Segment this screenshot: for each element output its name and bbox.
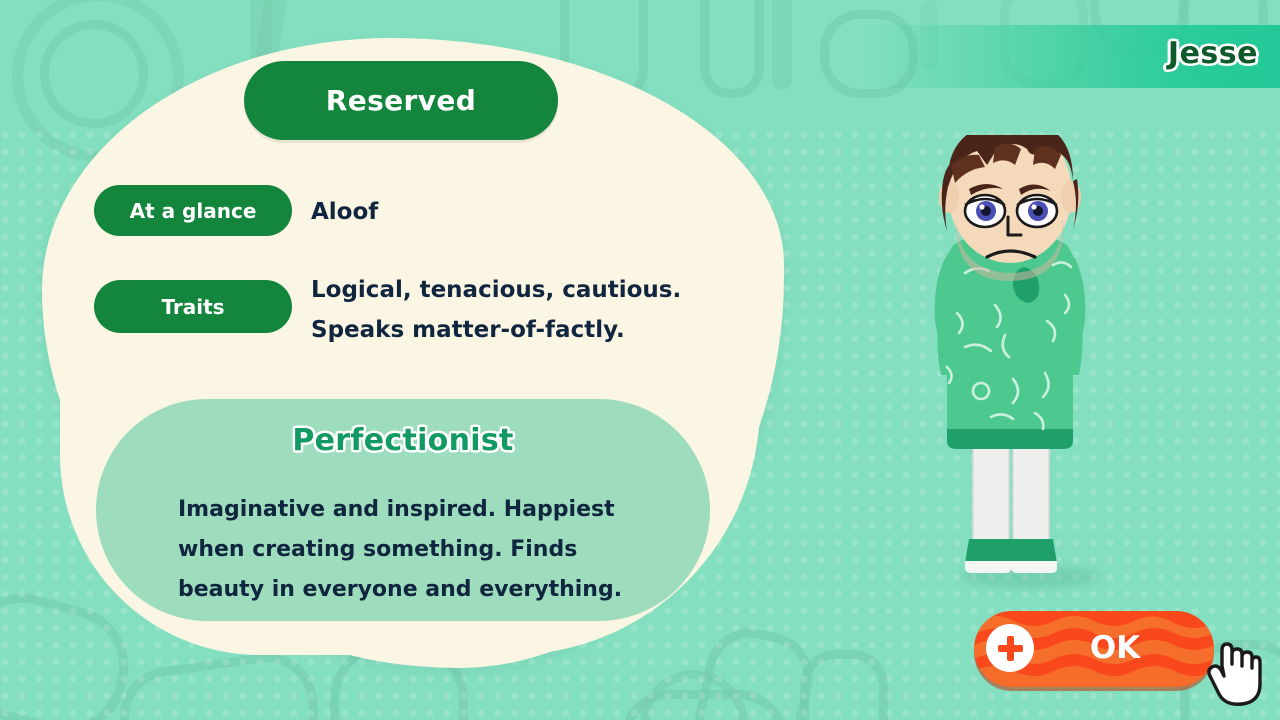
at-a-glance-value: Aloof — [311, 192, 378, 232]
highlight-description-line-1: Imaginative and inspired. Happiest — [178, 490, 688, 530]
mii-character — [895, 135, 1125, 585]
mii-personality-screen: Jesse — [0, 0, 1280, 720]
personality-title: Reserved — [326, 84, 477, 117]
at-a-glance-label-pill: At a glance — [94, 185, 292, 236]
highlight-description: Imaginative and inspired. Happiest when … — [178, 490, 688, 610]
highlight-description-line-3: beauty in everyone and everything. — [178, 570, 688, 610]
traits-label-pill: Traits — [94, 280, 292, 333]
player-name-label: Jesse — [1168, 36, 1258, 71]
personality-title-pill: Reserved — [244, 61, 558, 140]
ok-button-label: OK — [1060, 624, 1170, 672]
plus-circle-icon — [986, 624, 1034, 672]
at-a-glance-label: At a glance — [130, 199, 257, 223]
hand-pointer-icon — [1206, 636, 1266, 710]
highlight-description-line-2: when creating something. Finds — [178, 530, 688, 570]
traits-label: Traits — [161, 295, 224, 319]
traits-value-line-2: Speaks matter-of-factly. — [311, 310, 681, 350]
highlight-title: Perfectionist — [96, 423, 710, 458]
traits-value-line-1: Logical, tenacious, cautious. — [311, 270, 681, 310]
traits-value: Logical, tenacious, cautious. Speaks mat… — [311, 270, 681, 350]
